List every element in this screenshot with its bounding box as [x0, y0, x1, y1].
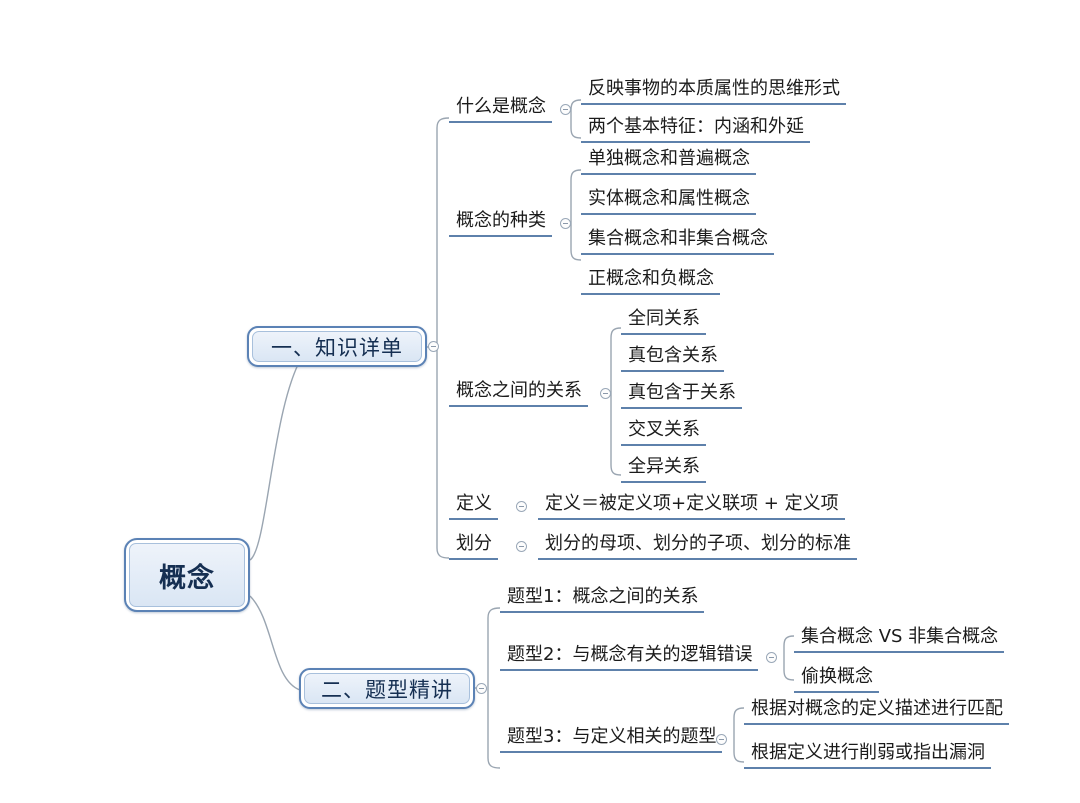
topic-definition[interactable]: 定义 — [449, 495, 498, 520]
leaf-topic[interactable]: 偷换概念 — [794, 668, 879, 693]
collapse-toggle-icon-topic-0-0[interactable] — [560, 104, 571, 115]
topic-label: 概念的种类 — [449, 212, 552, 237]
leaf-topic-label: 定义＝被定义项+定义联项 + 定义项 — [538, 495, 845, 520]
collapse-toggle-icon-topic-0-3[interactable] — [516, 501, 527, 512]
leaf-topic-label: 两个基本特征：内涵和外延 — [581, 118, 810, 143]
leaf-topic-label: 全同关系 — [621, 310, 706, 335]
topic-relations-between-concepts[interactable]: 概念之间的关系 — [449, 382, 588, 407]
leaf-topic[interactable]: 划分的母项、划分的子项、划分的标准 — [538, 535, 857, 560]
leaf-topic[interactable]: 集合概念 VS 非集合概念 — [794, 628, 1004, 653]
leaf-topic[interactable]: 集合概念和非集合概念 — [581, 230, 774, 255]
leaf-topic[interactable]: 两个基本特征：内涵和外延 — [581, 118, 810, 143]
topic-question-type-3[interactable]: 题型3：与定义相关的题型 — [500, 728, 722, 753]
topic-label: 题型3：与定义相关的题型 — [500, 728, 722, 753]
leaf-topic[interactable]: 实体概念和属性概念 — [581, 190, 756, 215]
topic-label: 定义 — [449, 495, 498, 520]
branch-node-question-types[interactable]: 二、题型精讲 — [299, 668, 475, 709]
collapse-toggle-icon-topic-0-4[interactable] — [516, 541, 527, 552]
leaf-topic-label: 根据定义进行削弱或指出漏洞 — [744, 744, 991, 769]
leaf-topic-label: 真包含于关系 — [621, 384, 742, 409]
leaf-topic-label: 正概念和负概念 — [581, 270, 720, 295]
root-node-label: 概念 — [129, 543, 245, 607]
topic-kinds-of-concept[interactable]: 概念的种类 — [449, 212, 552, 237]
topic-label: 概念之间的关系 — [449, 382, 588, 407]
collapse-toggle-icon-topic-1-1[interactable] — [766, 652, 777, 663]
collapse-toggle-icon-topic-0-1[interactable] — [560, 218, 571, 229]
leaf-topic[interactable]: 全异关系 — [621, 458, 706, 483]
branch-node-label: 一、知识详单 — [252, 331, 422, 362]
leaf-topic[interactable]: 正概念和负概念 — [581, 270, 720, 295]
topic-question-type-2[interactable]: 题型2：与概念有关的逻辑错误 — [500, 646, 758, 671]
leaf-topic-label: 单独概念和普遍概念 — [581, 150, 756, 175]
leaf-topic-label: 集合概念 VS 非集合概念 — [794, 628, 1004, 653]
collapse-toggle-icon-topic-0-2[interactable] — [600, 388, 611, 399]
leaf-topic-label: 偷换概念 — [794, 668, 879, 693]
collapse-toggle-icon-branch-0[interactable] — [428, 341, 439, 352]
leaf-topic-label: 集合概念和非集合概念 — [581, 230, 774, 255]
leaf-topic[interactable]: 定义＝被定义项+定义联项 + 定义项 — [538, 495, 845, 520]
topic-label: 题型2：与概念有关的逻辑错误 — [500, 646, 758, 671]
leaf-topic[interactable]: 根据定义进行削弱或指出漏洞 — [744, 744, 991, 769]
topic-what-is-concept[interactable]: 什么是概念 — [449, 98, 552, 123]
topic-label: 划分 — [449, 535, 498, 560]
topic-label: 题型1：概念之间的关系 — [500, 588, 704, 613]
collapse-toggle-icon-branch-1[interactable] — [476, 683, 487, 694]
leaf-topic[interactable]: 反映事物的本质属性的思维形式 — [581, 80, 846, 105]
leaf-topic[interactable]: 单独概念和普遍概念 — [581, 150, 756, 175]
leaf-topic[interactable]: 真包含关系 — [621, 347, 724, 372]
leaf-topic-label: 反映事物的本质属性的思维形式 — [581, 80, 846, 105]
root-node[interactable]: 概念 — [124, 538, 250, 612]
leaf-topic-label: 全异关系 — [621, 458, 706, 483]
branch-node-knowledge-list[interactable]: 一、知识详单 — [247, 326, 427, 367]
topic-label: 什么是概念 — [449, 98, 552, 123]
leaf-topic-label: 真包含关系 — [621, 347, 724, 372]
leaf-topic-label: 实体概念和属性概念 — [581, 190, 756, 215]
topic-question-type-1[interactable]: 题型1：概念之间的关系 — [500, 588, 704, 613]
leaf-topic[interactable]: 交叉关系 — [621, 421, 706, 446]
topic-division[interactable]: 划分 — [449, 535, 498, 560]
leaf-topic[interactable]: 真包含于关系 — [621, 384, 742, 409]
leaf-topic-label: 根据对概念的定义描述进行匹配 — [744, 700, 1009, 725]
leaf-topic-label: 划分的母项、划分的子项、划分的标准 — [538, 535, 857, 560]
leaf-topic[interactable]: 根据对概念的定义描述进行匹配 — [744, 700, 1009, 725]
branch-node-label: 二、题型精讲 — [304, 673, 470, 704]
leaf-topic-label: 交叉关系 — [621, 421, 706, 446]
leaf-topic[interactable]: 全同关系 — [621, 310, 706, 335]
mindmap-canvas: 概念 一、知识详单 二、题型精讲 什么是概念 概念的种类 概念之间的关系 定义 … — [0, 0, 1080, 803]
collapse-toggle-icon-topic-1-2[interactable] — [716, 734, 727, 745]
